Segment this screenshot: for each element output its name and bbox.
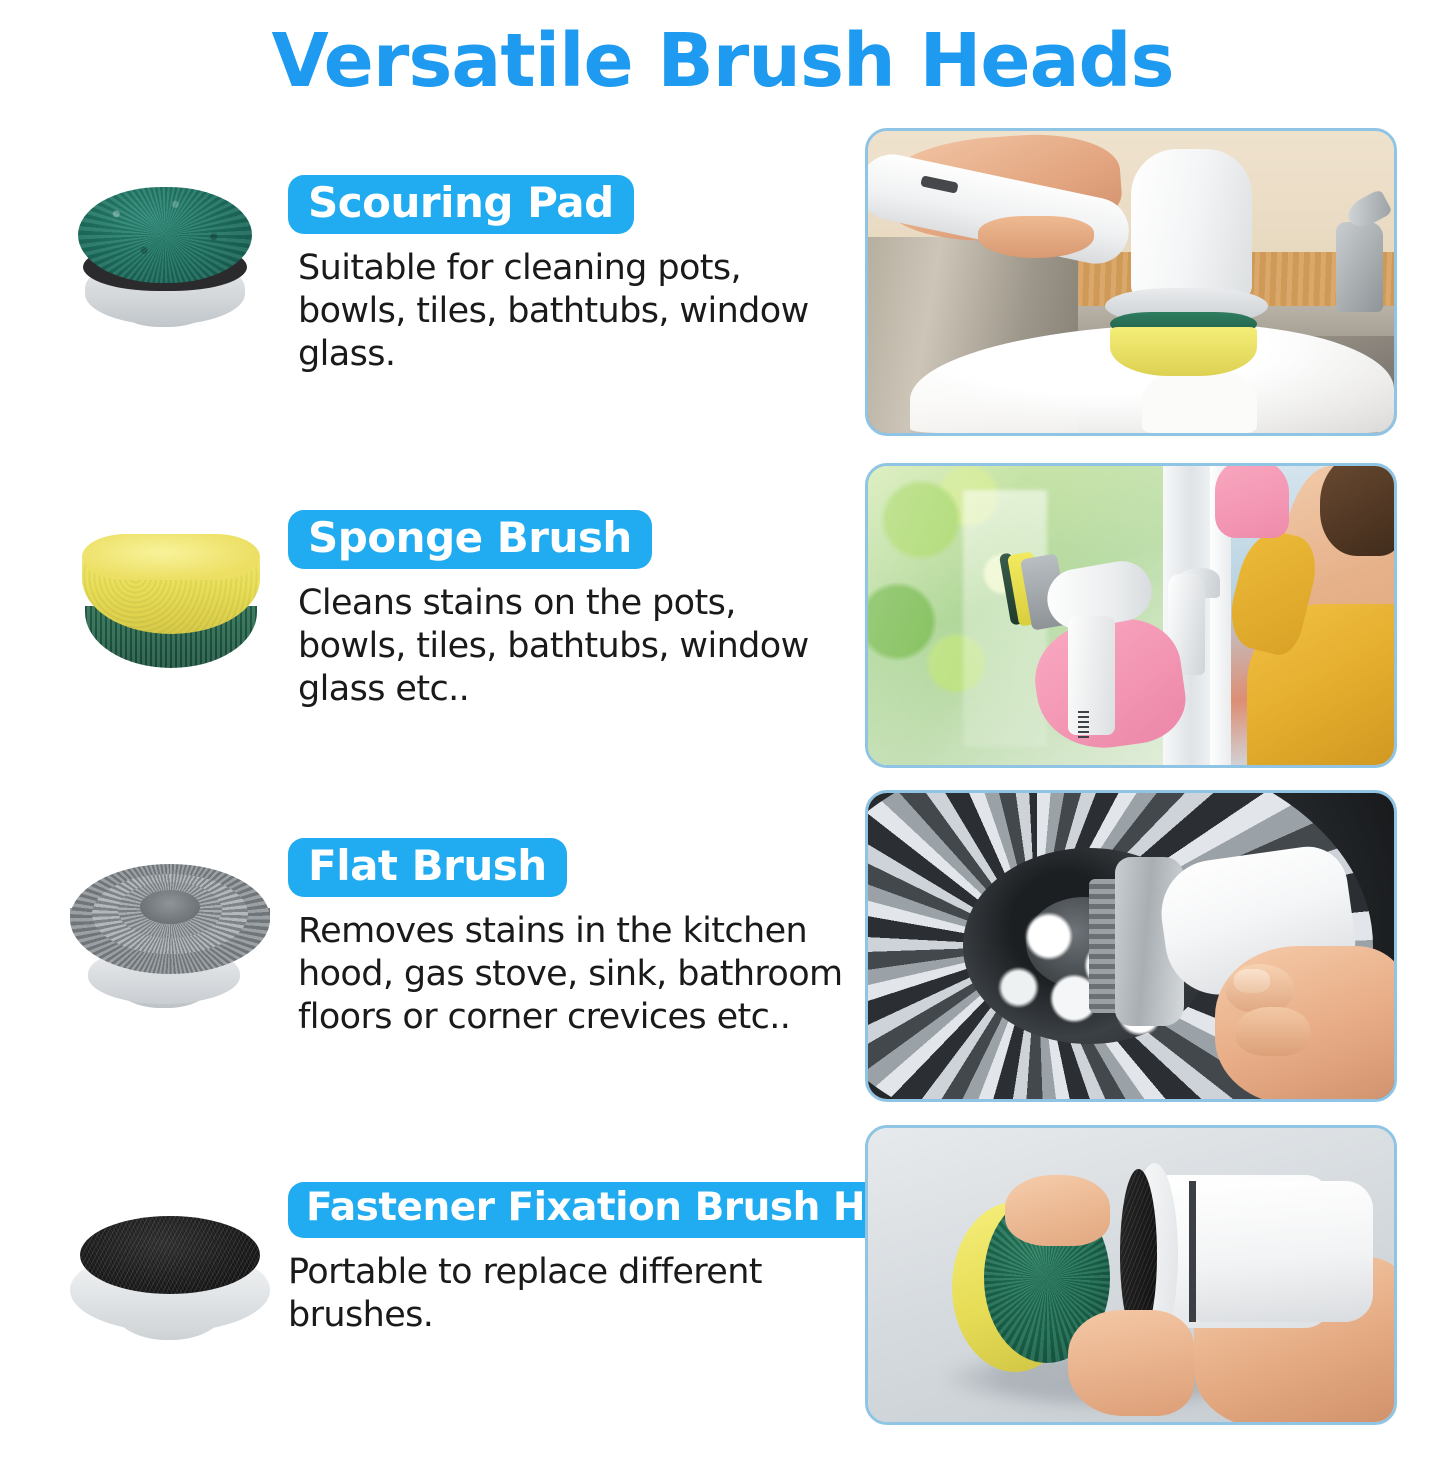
sink-scene: [868, 131, 1394, 433]
scrubber-neck: [1068, 616, 1115, 736]
fastener-head-velcro-surface: [80, 1216, 260, 1294]
pad-attachment-photo: [865, 1125, 1397, 1425]
flat-brush-center-hole: [140, 890, 200, 924]
scrubber-seam-ring: [1189, 1181, 1196, 1322]
pink-glove-upper: [1215, 466, 1289, 538]
car-wheel-cleaning-photo: [865, 790, 1397, 1102]
thumb: [1005, 1175, 1110, 1246]
badge-flat-brush: Flat Brush: [288, 838, 567, 897]
finger-lower: [1236, 1007, 1310, 1056]
attachment-scene: [868, 1128, 1394, 1422]
feature-row-scouring-pad: Scouring Pad Suitable for cleaning pots,…: [0, 145, 860, 475]
desc-scouring-pad: Suitable for cleaning pots, bowls, tiles…: [288, 247, 854, 375]
fingers: [1068, 1310, 1194, 1416]
sink-cleaning-photo: [865, 128, 1397, 436]
scouring-pad-icon: [30, 165, 280, 375]
sponge-brush-top-face: [82, 534, 260, 580]
desc-sponge-brush: Cleans stains on the pots, bowls, tiles,…: [288, 582, 854, 710]
feature-text-sponge-brush: Sponge Brush Cleans stains on the pots, …: [288, 510, 858, 710]
feature-row-sponge-brush: Sponge Brush Cleans stains on the pots, …: [0, 480, 860, 810]
fingers: [978, 216, 1094, 258]
page-title: Versatile Brush Heads: [0, 18, 1445, 104]
window-scene: [868, 466, 1394, 765]
soap-foam-drip: [1142, 367, 1258, 433]
infographic-page: Versatile Brush Heads Scouring Pad Suita…: [0, 0, 1445, 1445]
feature-text-scouring-pad: Scouring Pad Suitable for cleaning pots,…: [288, 175, 858, 375]
scrubber-head: [1131, 149, 1252, 300]
feature-text-fastener-fixation: Fastener Fixation Brush Head Portable to…: [288, 1182, 858, 1336]
feature-row-fastener-fixation: Fastener Fixation Brush Head Portable to…: [0, 1150, 860, 1480]
fingernail: [1234, 969, 1271, 993]
scouring-pad-surface: [78, 187, 252, 283]
scrubber-body: [1194, 1181, 1373, 1322]
faucet: [1336, 222, 1383, 313]
badge-sponge-brush: Sponge Brush: [288, 510, 652, 569]
feature-text-flat-brush: Flat Brush Removes stains in the kitchen…: [288, 838, 858, 1038]
badge-scouring-pad: Scouring Pad: [288, 175, 634, 234]
feature-row-flat-brush: Flat Brush Removes stains in the kitchen…: [0, 810, 860, 1140]
window-cleaning-photo: [865, 463, 1397, 768]
yellow-sponge-layer: [1110, 327, 1257, 375]
fastener-fixation-head-icon: [30, 1190, 280, 1400]
desc-fastener-fixation: Portable to replace different brushes.: [288, 1251, 854, 1336]
badge-fastener-fixation: Fastener Fixation Brush Head: [288, 1182, 962, 1238]
flat-brush-icon: [30, 830, 280, 1040]
led-indicator: [1078, 711, 1089, 738]
sponge-brush-icon: [30, 520, 280, 730]
wheel-scene: [868, 793, 1394, 1099]
woman-hair: [1320, 466, 1394, 556]
desc-flat-brush: Removes stains in the kitchen hood, gas …: [288, 910, 854, 1038]
